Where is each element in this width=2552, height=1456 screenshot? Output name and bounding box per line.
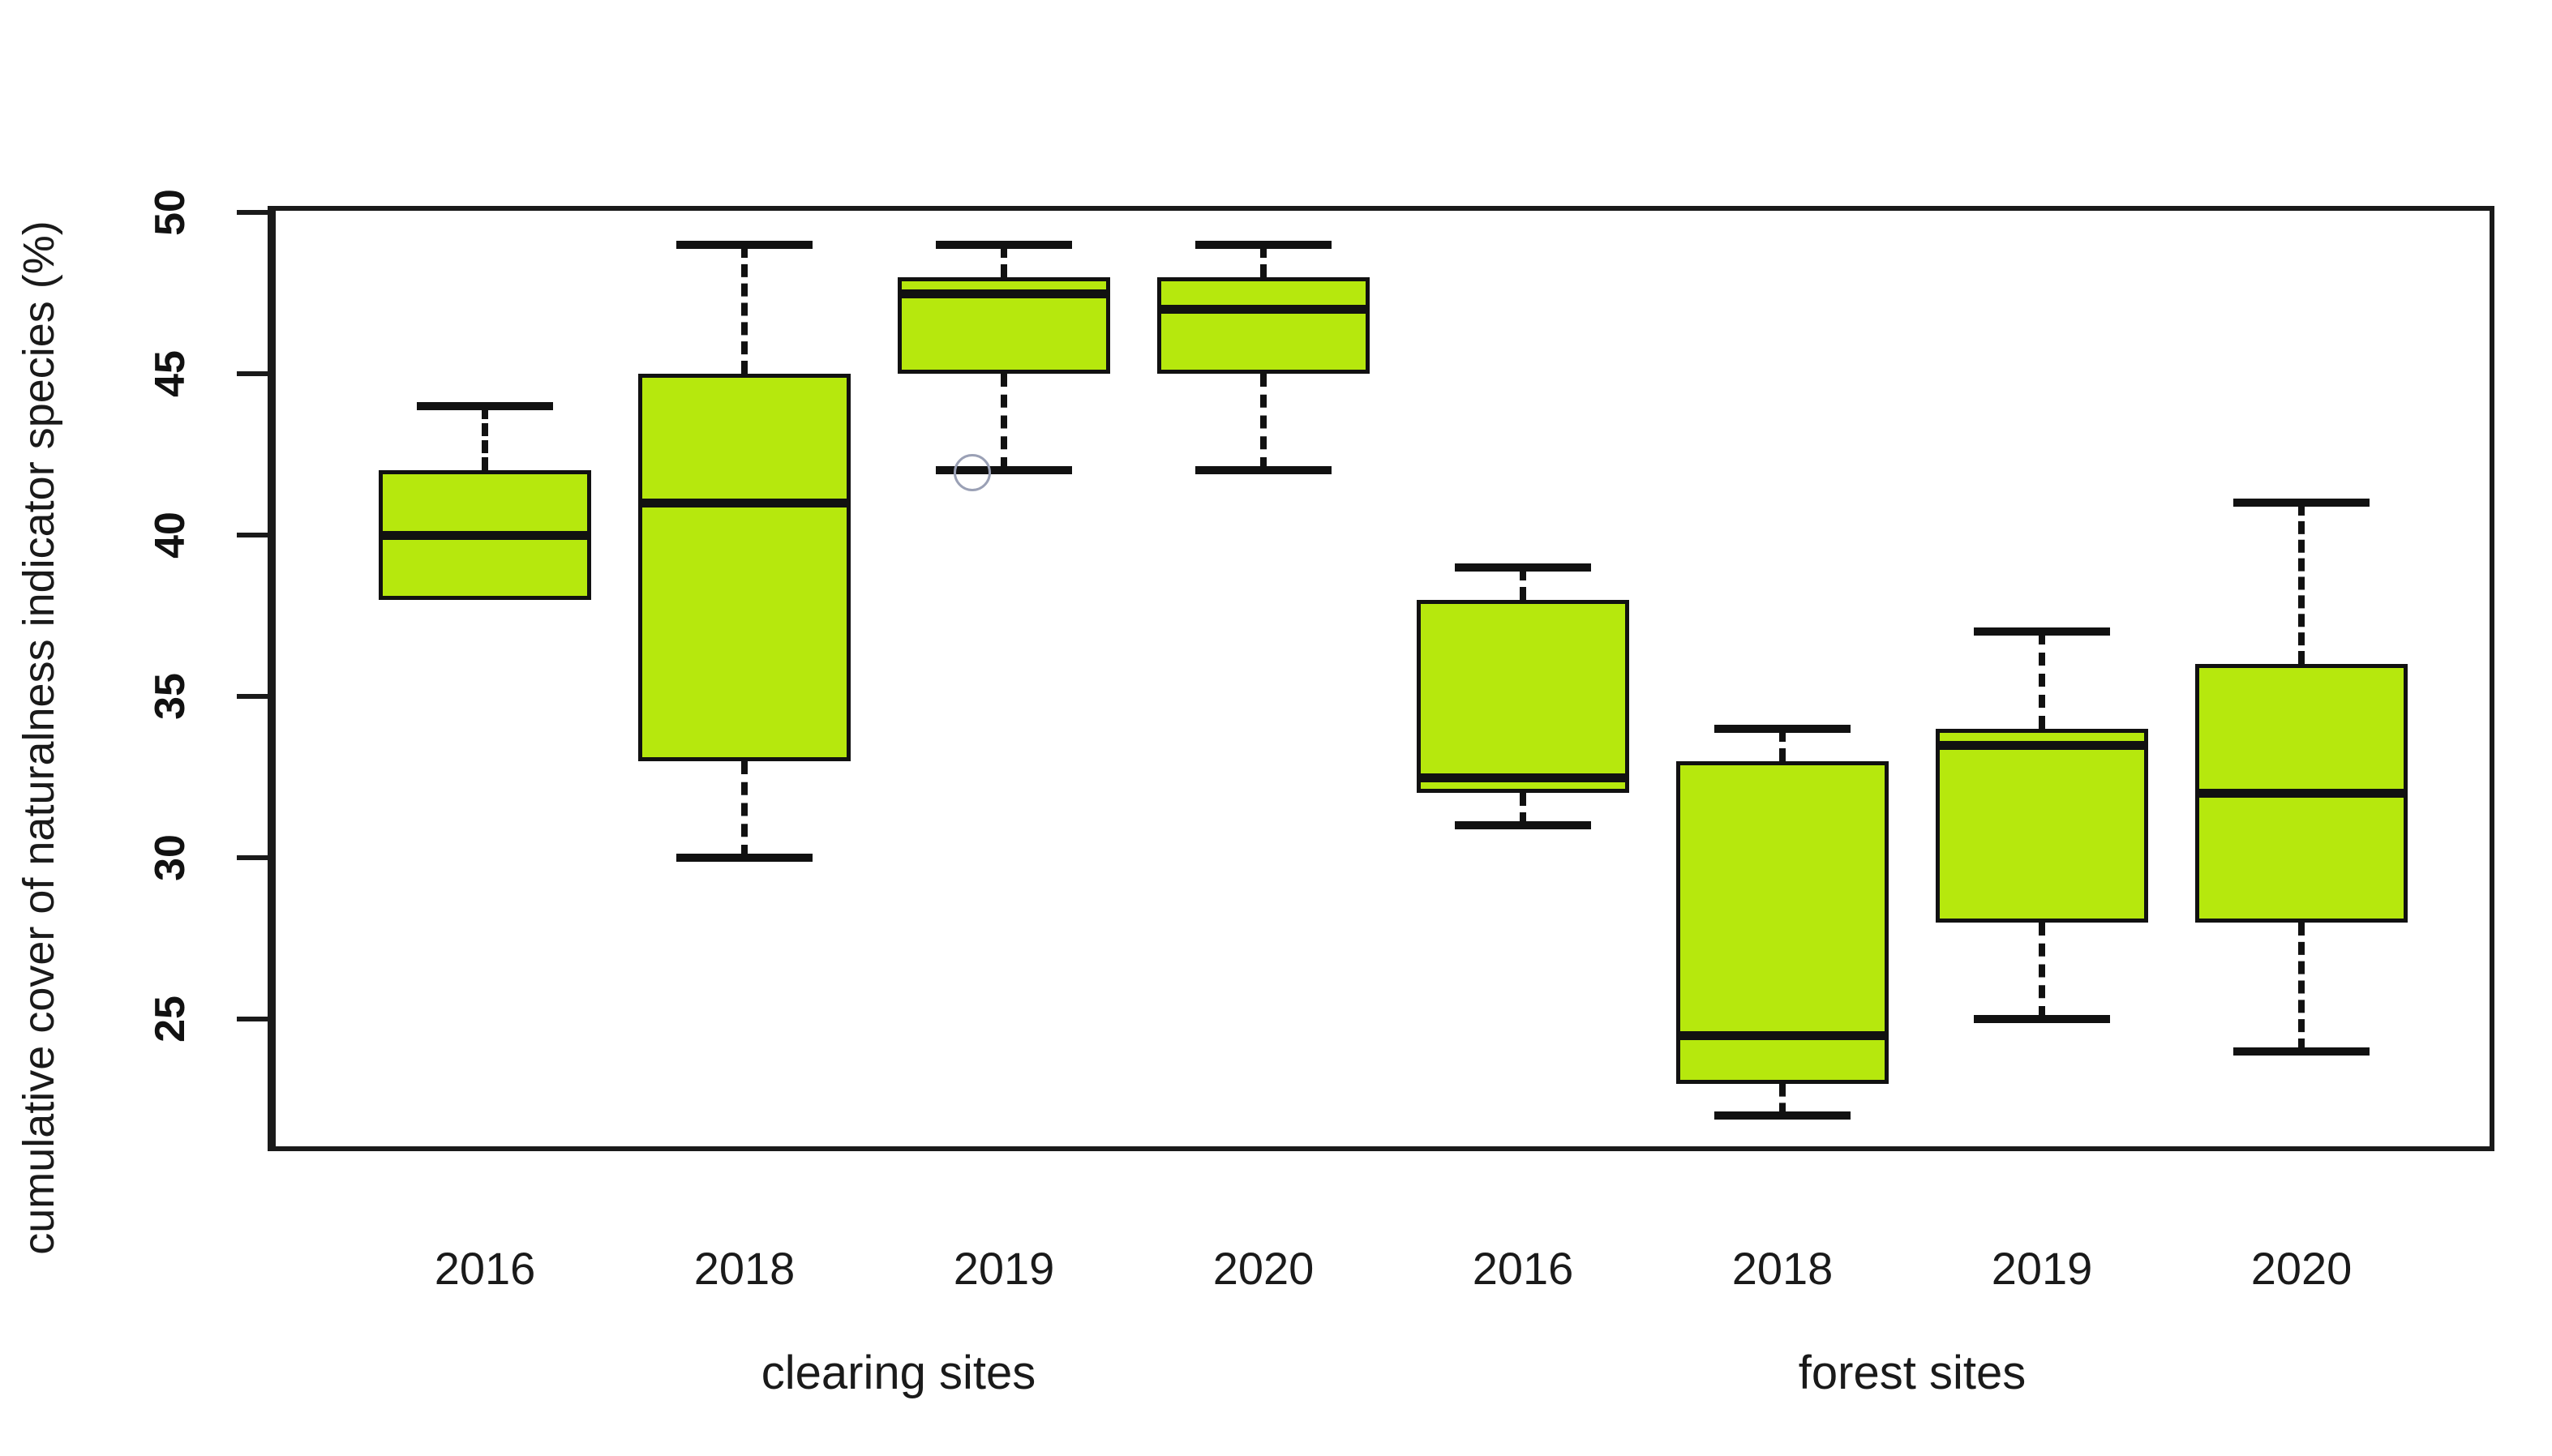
whisker-cap-lower [1974, 1015, 2110, 1023]
whisker-lower [2298, 923, 2305, 1051]
whisker-upper [1520, 567, 1526, 600]
whisker-cap-upper [1195, 241, 1332, 249]
median-line [898, 289, 1110, 298]
x-tick-label: 2020 [1158, 1242, 1369, 1295]
y-tick-mark [237, 1017, 272, 1021]
whisker-cap-upper [676, 241, 813, 249]
median-line [1157, 305, 1370, 314]
whisker-cap-upper [1974, 627, 2110, 636]
box [1157, 277, 1370, 374]
box [1936, 729, 2148, 923]
y-tick-mark [237, 694, 272, 699]
x-tick-label: 2018 [639, 1242, 850, 1295]
whisker-upper [2039, 632, 2045, 728]
x-axis-group-label: clearing sites [615, 1346, 1182, 1400]
x-axis-group-label: forest sites [1628, 1346, 2196, 1400]
median-line [379, 531, 591, 540]
whisker-cap-lower [1455, 821, 1591, 829]
whisker-lower [1001, 374, 1007, 470]
box [1417, 600, 1629, 794]
median-line [2195, 789, 2408, 798]
y-tick-mark [237, 210, 272, 215]
y-tick-label: 30 [146, 809, 195, 906]
whisker-cap-upper [936, 241, 1072, 249]
box [638, 374, 851, 761]
whisker-upper [1260, 245, 1267, 277]
y-tick-mark [237, 533, 272, 537]
x-tick-label: 2016 [380, 1242, 590, 1295]
whisker-upper [482, 406, 488, 471]
whisker-cap-lower [2233, 1047, 2370, 1056]
whisker-lower [741, 761, 748, 858]
whisker-cap-upper [1714, 725, 1851, 733]
y-tick-mark [237, 855, 272, 860]
whisker-upper [1779, 729, 1786, 761]
whisker-lower [1260, 374, 1267, 470]
whisker-cap-lower [1714, 1111, 1851, 1120]
median-line [638, 499, 851, 507]
whisker-upper [1001, 245, 1007, 277]
whisker-cap-upper [417, 402, 553, 410]
median-line [1417, 773, 1629, 782]
x-tick-label: 2016 [1418, 1242, 1628, 1295]
y-tick-label: 50 [146, 164, 195, 261]
plot-area [276, 211, 2490, 1146]
y-tick-label: 35 [146, 648, 195, 745]
median-line [1676, 1031, 1889, 1040]
whisker-cap-upper [2233, 499, 2370, 507]
y-tick-label: 25 [146, 970, 195, 1068]
x-tick-label: 2019 [1937, 1242, 2147, 1295]
whisker-upper [741, 245, 748, 374]
plot-frame [271, 206, 2494, 1151]
whisker-cap-lower [676, 854, 813, 862]
x-tick-label: 2018 [1677, 1242, 1888, 1295]
y-axis-title: cumulative cover of naturalness indicato… [0, 32, 78, 1443]
boxplot-figure: cumulative cover of naturalness indicato… [0, 0, 2552, 1456]
y-tick-mark [237, 371, 272, 376]
y-tick-label: 40 [146, 486, 195, 584]
x-tick-label: 2020 [2196, 1242, 2407, 1295]
whisker-upper [2298, 503, 2305, 664]
whisker-cap-lower [1195, 466, 1332, 474]
whisker-cap-upper [1455, 563, 1591, 572]
median-line [1936, 741, 2148, 750]
whisker-lower [2039, 923, 2045, 1019]
y-tick-label: 45 [146, 325, 195, 422]
x-tick-label: 2019 [899, 1242, 1109, 1295]
